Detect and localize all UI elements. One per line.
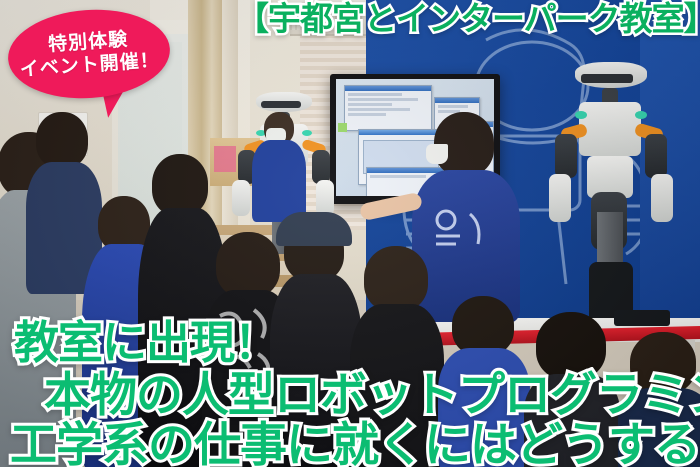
attendee-head (216, 232, 280, 298)
poster-location-title: 【宇都宮とインターパーク教室】 (236, 2, 700, 37)
robot-visor (581, 74, 633, 83)
robot-forearm-left (232, 180, 250, 216)
poster-root: 案内 トイレ (0, 0, 700, 467)
robot-visor (261, 101, 301, 108)
attendee-head (452, 296, 514, 356)
headline-line-3: 工学系の仕事に就くにはどうするの？講演会 (10, 406, 700, 467)
robot-arm-upper-right (312, 150, 330, 184)
humanoid-robot-right (545, 62, 685, 322)
face-mask (426, 144, 448, 164)
robot-arm-upper-left (555, 134, 577, 178)
robot-forearm-left (549, 174, 571, 222)
badge-line-2: イベント開催！ (19, 49, 160, 82)
window-titlebar (345, 86, 431, 91)
attendee-head (36, 112, 88, 168)
attendee-head (364, 246, 428, 312)
staff-body (252, 140, 306, 222)
staff-background (252, 112, 306, 222)
robot-upper-torso (579, 102, 641, 156)
robot-forearm-right (651, 174, 673, 222)
attendee (30, 112, 94, 292)
robot-led-left (575, 111, 587, 119)
robot-arm-upper-right (645, 134, 667, 178)
robot-led-right (635, 111, 647, 119)
robot-forearm-right (316, 180, 334, 216)
attendee-head (152, 154, 208, 216)
shirt-print (430, 206, 488, 258)
baseball-cap (276, 212, 352, 246)
window-titlebar (435, 98, 479, 103)
control-tablet (614, 310, 670, 326)
